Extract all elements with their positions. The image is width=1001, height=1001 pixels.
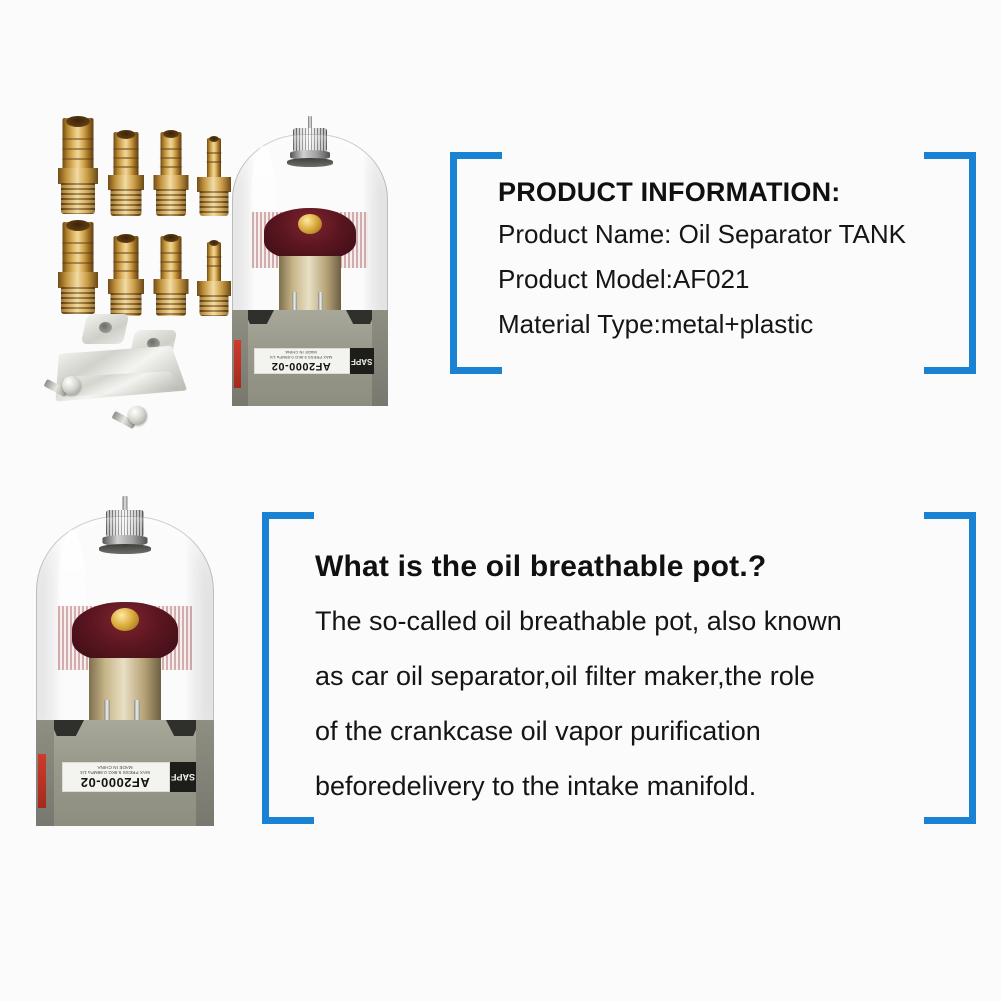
material-type-line: Material Type:metal+plastic [498, 302, 928, 347]
product-label: AF2000-02 MAX PRESS 9.9KG 0.99MPa 1/4 MA… [254, 348, 350, 374]
barb-fitting [54, 114, 102, 214]
product-information-block: PRODUCT INFORMATION: Product Name: Oil S… [498, 172, 928, 347]
description-line-2: as car oil separator,oil filter maker,th… [315, 649, 965, 704]
barb-fitting [104, 232, 148, 316]
label-line-2: MADE IN CHINA [97, 765, 132, 770]
barb-fitting [54, 218, 102, 314]
label-line-1: MAX PRESS 9.9KG 0.99MPa 1/4 [80, 770, 150, 775]
oil-separator-unit-photo-top: AF2000-02 MAX PRESS 9.9KG 0.99MPa 1/4 MA… [232, 116, 388, 406]
label-line-1: MAX PRESS 9.9KG 0.99MPa 1/4 [270, 355, 332, 360]
mounting-bracket-photo [28, 312, 200, 432]
description-line-1: The so-called oil breathable pot, also k… [315, 594, 965, 649]
brand-logo-text: SAPF [351, 357, 372, 366]
description-line-3: of the crankcase oil vapor purification [315, 704, 965, 759]
barb-fitting [150, 232, 192, 316]
description-line-4: beforedelivery to the intake manifold. [315, 759, 965, 814]
brass-fittings-photo [46, 106, 236, 306]
label-model: AF2000-02 [271, 360, 331, 372]
product-name-line: Product Name: Oil Separator TANK [498, 212, 928, 257]
oil-separator-unit-photo-bottom: AF2000-02 MAX PRESS 9.9KG 0.99MPa 1/4 MA… [36, 496, 214, 826]
barb-fitting [150, 128, 192, 216]
infographic-page: AF2000-02 MAX PRESS 9.9KG 0.99MPa 1/4 MA… [0, 0, 1001, 1001]
brand-logo: SAPF [170, 762, 196, 792]
brand-logo: SAPF [350, 348, 374, 374]
bracket-left-oil-breathable-pot [262, 512, 322, 824]
product-label: AF2000-02 MAX PRESS 9.9KG 0.99MPa 1/4 MA… [62, 762, 170, 792]
product-information-heading: PRODUCT INFORMATION: [498, 172, 928, 212]
brand-logo-text: SAPF [171, 772, 195, 782]
label-line-2: MADE IN CHINA [285, 350, 317, 355]
barb-fitting [194, 134, 234, 216]
label-model: AF2000-02 [80, 775, 150, 790]
oil-breathable-pot-block: What is the oil breathable pot.? The so-… [315, 540, 965, 814]
barb-fitting [194, 238, 234, 316]
barb-fitting [104, 128, 148, 216]
product-model-line: Product Model:AF021 [498, 257, 928, 302]
oil-breathable-pot-heading: What is the oil breathable pot.? [315, 540, 965, 594]
